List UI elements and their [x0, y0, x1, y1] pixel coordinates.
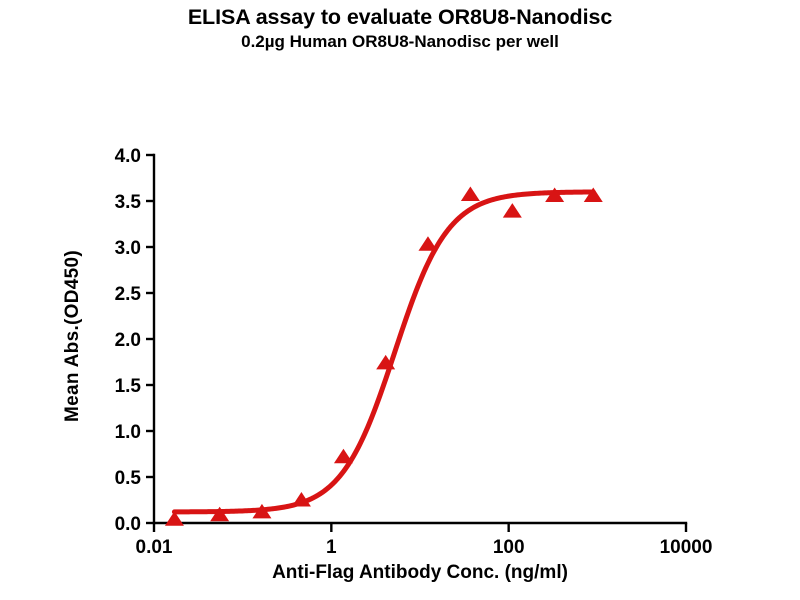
x-tick-label: 1 — [326, 537, 337, 558]
y-tick-label: 0.0 — [115, 514, 141, 535]
data-point-marker — [503, 203, 522, 218]
x-axis: 0.01110010000 — [136, 523, 713, 558]
plot-area: 0.00.51.01.52.02.53.03.54.0 0.0111001000… — [0, 0, 800, 600]
data-point-marker — [418, 236, 437, 251]
y-tick-label: 0.5 — [115, 468, 142, 489]
fit-curve — [174, 192, 593, 512]
x-tick-label: 0.01 — [136, 537, 173, 558]
data-point-marker — [461, 187, 480, 202]
elisa-chart-figure: ELISA assay to evaluate OR8U8-Nanodisc 0… — [0, 0, 800, 600]
y-axis: 0.00.51.01.52.02.53.03.54.0 — [115, 146, 154, 535]
y-tick-label: 1.0 — [115, 422, 141, 443]
y-tick-label: 4.0 — [115, 146, 141, 167]
y-tick-label: 2.5 — [115, 284, 142, 305]
y-tick-label: 3.0 — [115, 238, 141, 259]
y-tick-label: 2.0 — [115, 330, 141, 351]
data-point-marker — [334, 449, 353, 464]
x-tick-label: 10000 — [660, 537, 713, 558]
y-tick-label: 3.5 — [115, 192, 142, 213]
data-series — [165, 187, 603, 526]
y-tick-label: 1.5 — [115, 376, 142, 397]
x-tick-label: 100 — [493, 537, 525, 558]
